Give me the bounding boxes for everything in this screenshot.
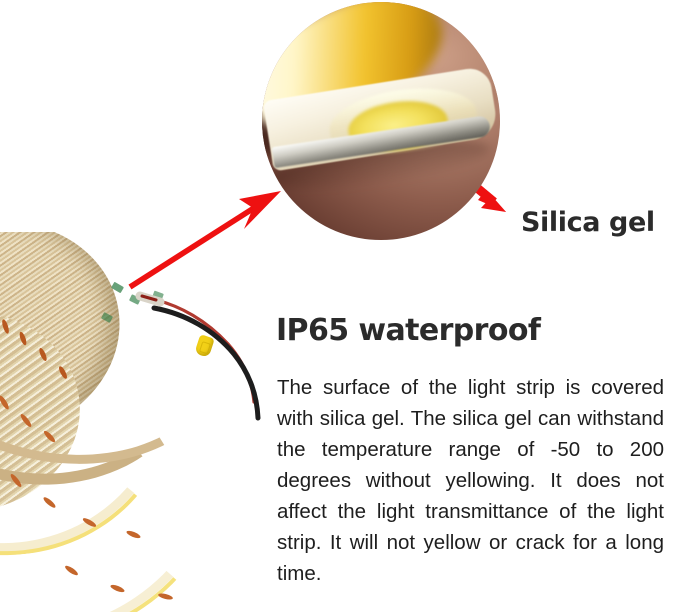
silica-gel-label: Silica gel: [521, 207, 655, 238]
led-strip-roll: [0, 232, 255, 612]
macro-photo-strip-end: [262, 2, 500, 240]
product-feature-graphic: Silica gel IP65 waterproof The surface o…: [0, 0, 679, 612]
feature-description: The surface of the light strip is covere…: [277, 372, 664, 589]
feature-heading: IP65 waterproof: [276, 313, 540, 348]
